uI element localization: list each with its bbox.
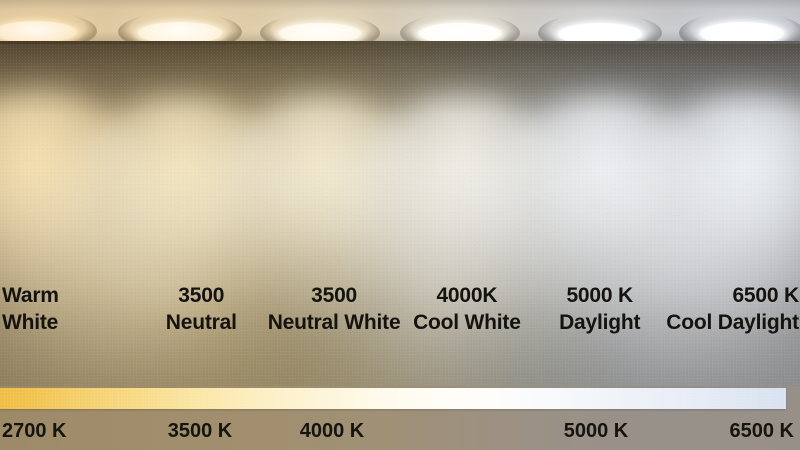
wall-upper-shadow xyxy=(0,41,800,115)
ceiling-wall-junction-line xyxy=(0,41,800,44)
kelvin-gradient-scale xyxy=(0,388,786,409)
light-pool-3500k-b xyxy=(182,89,462,388)
light-pool-4000k xyxy=(322,89,602,388)
light-pool-5000k xyxy=(462,89,744,388)
kelvin-tick-3500: 3500 K xyxy=(134,419,266,443)
ambient-wash-warm xyxy=(0,191,420,388)
kelvin-tick-4000: 4000 K xyxy=(266,419,398,443)
gradient-bar-texture xyxy=(0,388,786,409)
kelvin-scale-panel: 2700 K 3500 K 4000 K 5000 K 6500 K xyxy=(0,386,800,450)
light-pool-2700k xyxy=(0,83,177,388)
wall-surface xyxy=(0,41,800,388)
ambient-wash-cool xyxy=(450,191,800,388)
color-temperature-comparison-scene: Warm White 3500 Neutral 3500 Neutral Whi… xyxy=(0,0,800,450)
wall-texture-grain xyxy=(0,41,800,388)
light-pool-6500k xyxy=(602,87,800,388)
kelvin-tick-2700: 2700 K xyxy=(0,419,134,443)
light-pool-3500k-a xyxy=(40,91,322,388)
ambient-wash-neutral xyxy=(250,191,630,388)
kelvin-tick-6500: 6500 K xyxy=(662,419,800,443)
kelvin-tick-row: 2700 K 3500 K 4000 K 5000 K 6500 K xyxy=(0,414,800,448)
kelvin-tick-5000: 5000 K xyxy=(530,419,662,443)
